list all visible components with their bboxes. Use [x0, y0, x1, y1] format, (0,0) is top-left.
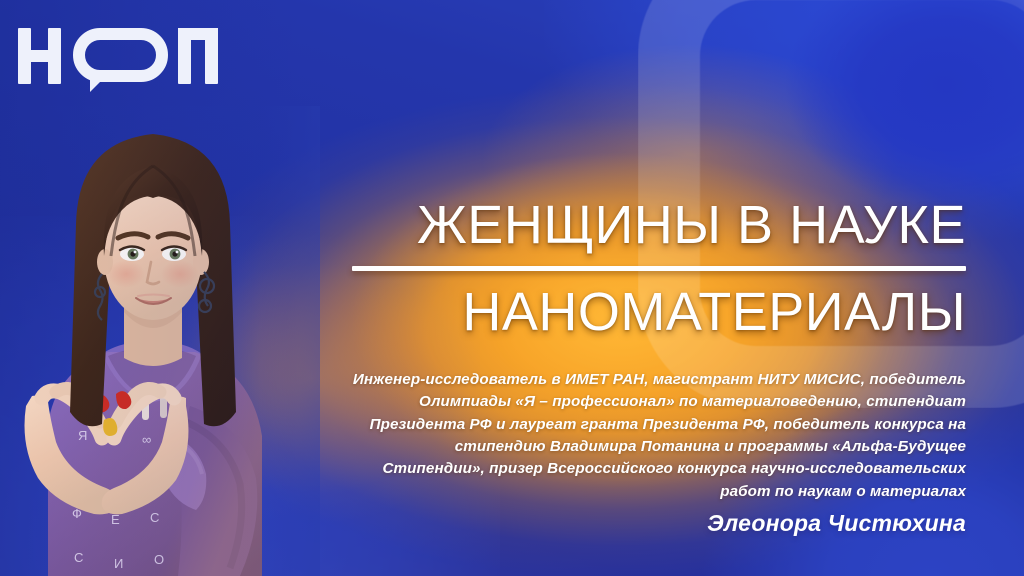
headline-divider: [352, 266, 966, 271]
text-content-block: ЖЕНЩИНЫ В НАУКЕ НАНОМАТЕРИАЛЫ Инженер-ис…: [352, 198, 966, 537]
logo-speech-bubble-icon: [79, 34, 162, 76]
logo-letter-p: [178, 28, 218, 84]
biography-text: Инженер-исследователь в ИМЕТ РАН, магист…: [352, 369, 966, 503]
logo-letter-n: [18, 28, 61, 84]
headline-primary: ЖЕНЩИНЫ В НАУКЕ: [352, 198, 966, 252]
headline-secondary: НАНОМАТЕРИАЛЫ: [352, 285, 966, 339]
featured-person-name: Элеонора Чистюхина: [352, 510, 966, 537]
portrait-photo: Я ∞ Ф Е С С И О Н: [0, 106, 320, 576]
poster-canvas: Я ∞ Ф Е С С И О Н: [0, 0, 1024, 576]
nop-logo[interactable]: [18, 26, 218, 92]
background-blue-corner-top-right: [684, 0, 1024, 210]
logo-speech-bubble-tail: [90, 76, 106, 92]
